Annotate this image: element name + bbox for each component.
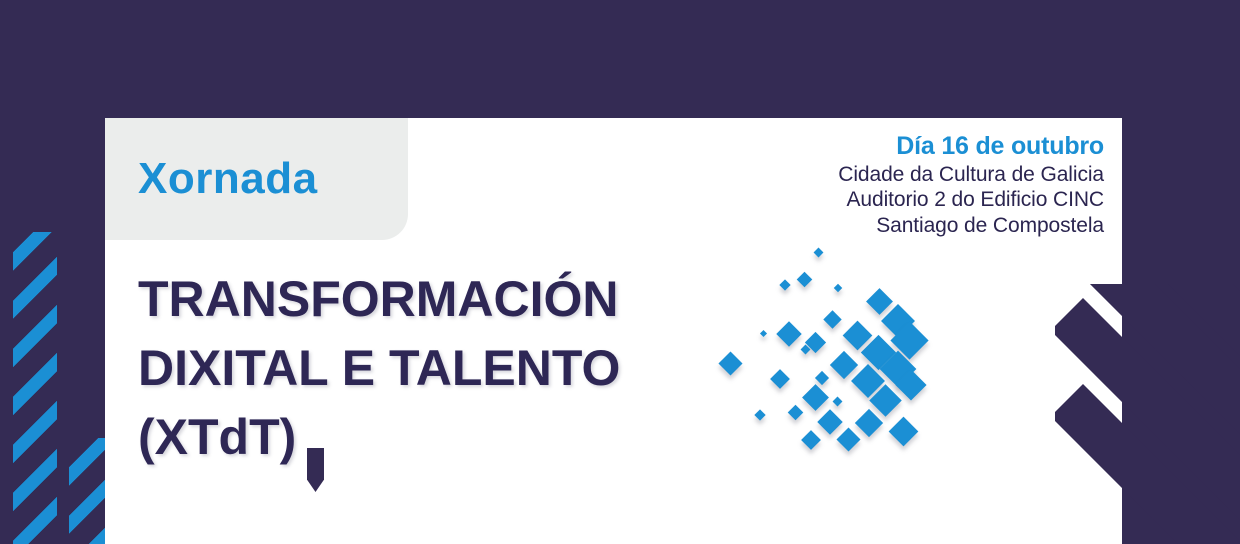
pixel-arrow-square [770,369,790,389]
pixel-arrow-square [802,384,829,411]
pixel-arrow-square [834,284,842,292]
pixel-arrow-square [817,409,842,434]
headline-line-1: TRANSFORMACIÓN [138,265,620,334]
event-venue: Cidade da Cultura de Galicia [838,162,1104,188]
event-room: Auditorio 2 do Edificio CINC [838,187,1104,213]
xornada-badge-label: Xornada [138,157,318,201]
poster-root: Xornada Día 16 de outubro Cidade da Cult… [0,0,1240,544]
pixel-arrow-square [836,427,860,451]
main-white-card: Xornada Día 16 de outubro Cidade da Cult… [105,118,1122,544]
pixel-arrow-square [760,330,767,337]
pixel-arrow-square [833,397,843,407]
pixel-arrow-square [779,279,790,290]
left-diagonal-stripes-secondary [69,438,107,544]
xornada-badge: Xornada [105,118,408,240]
binary-globe-graphic: 1011001010110100101101011010100101101001… [320,463,800,544]
event-city: Santiago de Compostela [838,213,1104,239]
pixel-arrow-square [754,409,765,420]
pixel-arrow-square [814,248,824,258]
headline-line-3: (XTdT) [138,403,620,472]
pixel-arrow-square [889,417,919,447]
pixel-arrow-square [801,430,821,450]
event-date: Día 16 de outubro [838,132,1104,162]
pixel-arrow-square [788,405,804,421]
navy-pointer-tip [307,448,324,492]
pixel-arrow-square [823,310,841,328]
page-title: TRANSFORMACIÓN DIXITAL E TALENTO (XTdT) [138,265,620,472]
event-details: Día 16 de outubro Cidade da Cultura de G… [838,132,1104,238]
pixel-arrow-square [797,272,813,288]
pixel-arrow-square [815,371,829,385]
pixel-arrow-square [866,288,893,315]
right-diagonal-stripes [1055,284,1240,544]
left-diagonal-stripes-primary [13,232,57,544]
pixel-arrow-icon [718,243,918,443]
pixel-arrow-square [718,351,742,375]
pixel-arrow-square [855,409,883,437]
pixel-arrow-square [830,351,858,379]
headline-line-2: DIXITAL E TALENTO [138,334,620,403]
pixel-arrow-square [776,321,801,346]
